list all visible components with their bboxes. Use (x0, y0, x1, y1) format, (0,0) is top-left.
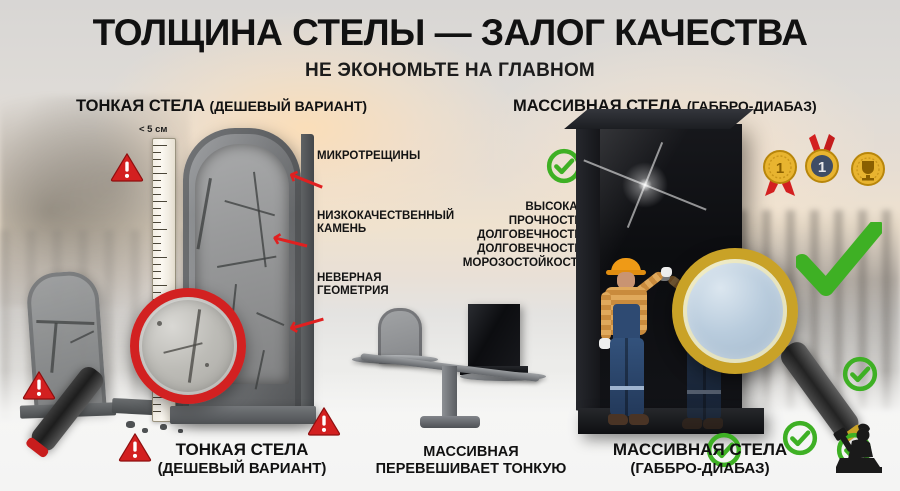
rubble-piece (178, 429, 183, 433)
caption-middle-line1: МАССИВНАЯ (356, 444, 586, 461)
magnifier-gold-rim (683, 259, 787, 363)
magnifier-red-lens (130, 288, 246, 404)
thin-stele-base (170, 406, 316, 424)
warning-triangle-icon (110, 152, 144, 182)
defect-label-wrong-geometry: НЕВЕРНАЯ ГЕОМЕТРИЯ (317, 272, 389, 298)
medal-first-place-ribbon-icon: 1 (757, 142, 803, 200)
arrow-to-low-quality-stone-icon: ⟵ (269, 224, 311, 258)
stonemason-emblem-icon (822, 414, 886, 478)
page-title: ТОЛЩИНА СТЕЛЫ — ЗАЛОГ КАЧЕСТВА (0, 12, 900, 54)
caption-right: МАССИВНАЯ СТЕЛА (ГАББРО-ДИАБАЗ) (580, 440, 820, 478)
warning-triangle-icon (307, 406, 341, 436)
worker-boot (608, 414, 628, 425)
column-heading-left-paren: (ДЕШЕВЫЙ ВАРИАНТ) (210, 98, 368, 114)
benefit-item: ДОЛГОВЕЧНОСТЬ, (446, 242, 586, 256)
benefits-list: ВЫСОКАЯ ПРОЧНОСТЬ, ДОЛГОВЕЧНОСТЬ, ДОЛГОВ… (446, 200, 586, 270)
rubble-piece (126, 421, 135, 428)
worker-overalls-bib (613, 304, 640, 342)
worker-boot (629, 414, 649, 425)
worker-legs (610, 338, 644, 416)
rubble-piece (160, 424, 167, 430)
scales-foot (420, 416, 480, 428)
column-heading-left-main: ТОНКАЯ СТЕЛА (76, 97, 205, 115)
caption-right-line1: МАССИВНАЯ СТЕЛА (580, 440, 820, 460)
medal-first-place-blue-icon: 1 (799, 132, 845, 190)
caption-right-line2: (ГАББРО-ДИАБАЗ) (580, 460, 820, 478)
scales-column (442, 366, 457, 418)
defect-label-microcracks: МИКРОТРЕЩИНЫ (317, 150, 420, 163)
defect-label-low-quality-stone: НИЗКОКАЧЕСТВЕННЫЙ КАМЕНЬ (317, 210, 454, 236)
column-heading-left: ТОНКАЯ СТЕЛА (ДЕШЕВЫЙ ВАРИАНТ) (76, 97, 367, 116)
thickness-label-left: < 5 см (139, 124, 167, 135)
page-subtitle: НЕ ЭКОНОМЬТЕ НА ГЛАВНОМ (0, 60, 900, 82)
massive-stele-top (564, 109, 754, 129)
scales-massive-stele (468, 304, 520, 368)
infographic-canvas: ТОЛЩИНА СТЕЛЫ — ЗАЛОГ КАЧЕСТВА НЕ ЭКОНОМ… (0, 0, 900, 491)
caption-left-line2: (ДЕШЕВЫЙ ВАРИАНТ) (122, 460, 362, 478)
medal-label: 1 (776, 160, 784, 177)
benefit-item: ВЫСОКАЯ ПРОЧНОСТЬ, (446, 200, 586, 228)
caption-middle: МАССИВНАЯ ПЕРЕВЕШИВАЕТ ТОНКУЮ (356, 444, 586, 478)
caption-left: ТОНКАЯ СТЕЛА (ДЕШЕВЫЙ ВАРИАНТ) (122, 440, 362, 478)
benefit-item: ДОЛГОВЕЧНОСТЬ, (446, 228, 586, 242)
balance-scales-illustration (360, 300, 540, 432)
worker-lower-arm (601, 292, 611, 340)
worker-measuring-stele (593, 258, 659, 434)
worker-reflective-stripe (610, 386, 644, 390)
worker-raised-hand (661, 267, 672, 277)
magnifier-gold-lens (672, 248, 798, 374)
big-check-mark-icon (796, 222, 882, 302)
benefit-item: МОРОЗОСТОЙКОСТЬ (446, 256, 586, 270)
caption-left-line1: ТОНКАЯ СТЕЛА (122, 440, 362, 460)
caption-middle-line2: ПЕРЕВЕШИВАЕТ ТОНКУЮ (356, 461, 586, 478)
warning-triangle-icon (22, 370, 56, 400)
check-circle-icon (842, 356, 878, 392)
medal-label: 1 (818, 159, 826, 176)
medal-trophy-cup-icon (845, 145, 891, 203)
